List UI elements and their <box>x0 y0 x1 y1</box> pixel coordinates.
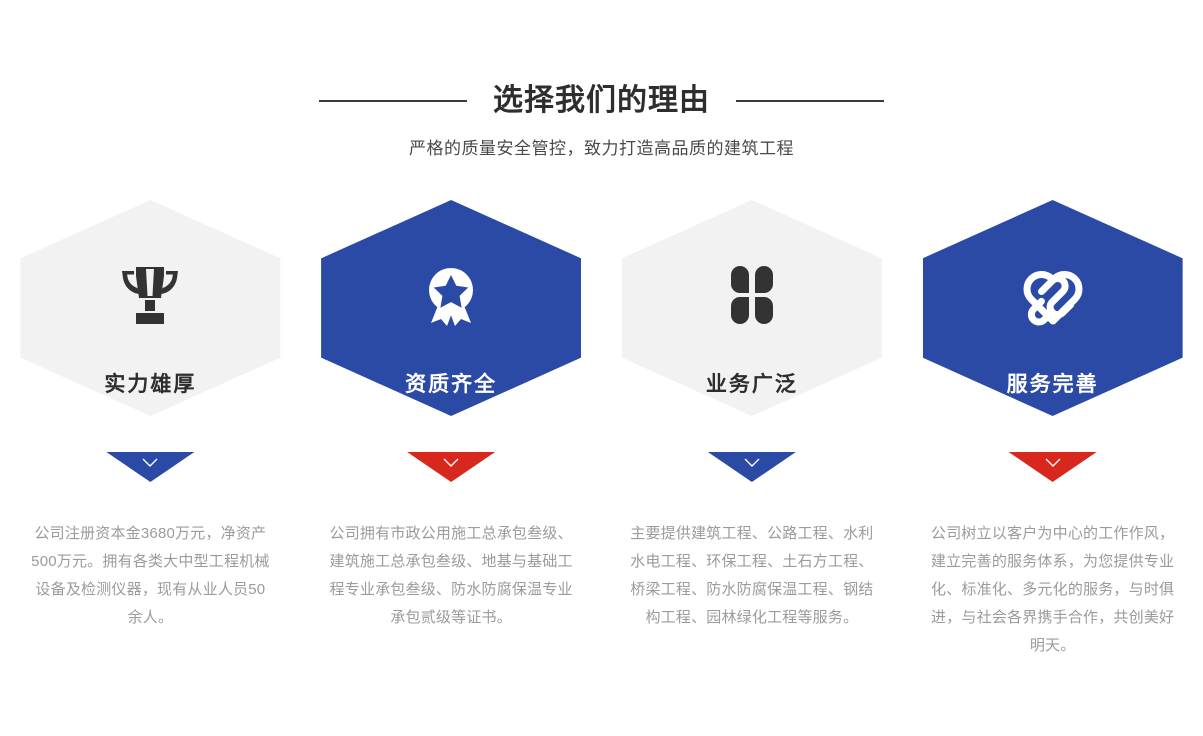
four-petal-clover-icon <box>709 252 795 338</box>
feature-card[interactable]: 业务广泛 主要提供建筑工程、公路工程、水利水电工程、环保工程、土石方工程、桥梁工… <box>602 200 903 660</box>
feature-card-description: 公司树立以客户为中心的工作作风，建立完善的服务体系，为您提供专业化、标准化、多元… <box>931 520 1175 660</box>
feature-card-description: 公司注册资本金3680万元，净资产500万元。拥有各类大中型工程机械设备及检测仪… <box>28 520 272 632</box>
hexagon-badge[interactable]: 实力雄厚 <box>20 200 280 485</box>
interlocking-hearts-icon <box>1010 252 1096 338</box>
feature-card[interactable]: 服务完善 公司树立以客户为中心的工作作风，建立完善的服务体系，为您提供专业化、标… <box>902 200 1203 660</box>
chevron-down-icon <box>443 458 459 468</box>
chevron-down-icon <box>142 458 158 468</box>
feature-card-label: 业务广泛 <box>622 372 882 398</box>
hexagon-badge[interactable]: 业务广泛 <box>622 200 882 485</box>
card-pointer-arrow[interactable] <box>708 452 796 482</box>
feature-card[interactable]: 资质齐全 公司拥有市政公用施工总承包叁级、建筑施工总承包叁级、地基与基础工程专业… <box>301 200 602 660</box>
hexagon-badge[interactable]: 资质齐全 <box>321 200 581 485</box>
page-subtitle: 严格的质量安全管控，致力打造高品质的建筑工程 <box>0 137 1203 161</box>
feature-card-description: 主要提供建筑工程、公路工程、水利水电工程、环保工程、土石方工程、桥梁工程、防水防… <box>626 520 878 632</box>
hexagon-badge[interactable]: 服务完善 <box>923 200 1183 485</box>
award-medal-icon <box>408 252 494 338</box>
chevron-down-icon <box>1045 458 1061 468</box>
feature-card-label: 资质齐全 <box>321 372 581 398</box>
page-title: 选择我们的理由 <box>493 84 710 118</box>
feature-card-list: 实力雄厚 公司注册资本金3680万元，净资产500万元。拥有各类大中型工程机械设… <box>0 200 1203 660</box>
trophy-icon <box>107 252 193 338</box>
title-row: 选择我们的理由 <box>0 78 1203 124</box>
card-pointer-arrow[interactable] <box>106 452 194 482</box>
feature-card-description: 公司拥有市政公用施工总承包叁级、建筑施工总承包叁级、地基与基础工程专业承包叁级、… <box>325 520 577 632</box>
chevron-down-icon <box>744 458 760 468</box>
feature-card-label: 服务完善 <box>923 372 1183 398</box>
section-header: 选择我们的理由 严格的质量安全管控，致力打造高品质的建筑工程 <box>0 78 1203 161</box>
title-rule-right <box>736 100 884 102</box>
title-rule-left <box>319 100 467 102</box>
card-pointer-arrow[interactable] <box>1009 452 1097 482</box>
feature-card[interactable]: 实力雄厚 公司注册资本金3680万元，净资产500万元。拥有各类大中型工程机械设… <box>0 200 301 660</box>
card-pointer-arrow[interactable] <box>407 452 495 482</box>
page-root: 选择我们的理由 严格的质量安全管控，致力打造高品质的建筑工程 <box>0 0 1203 736</box>
feature-card-label: 实力雄厚 <box>20 372 280 398</box>
